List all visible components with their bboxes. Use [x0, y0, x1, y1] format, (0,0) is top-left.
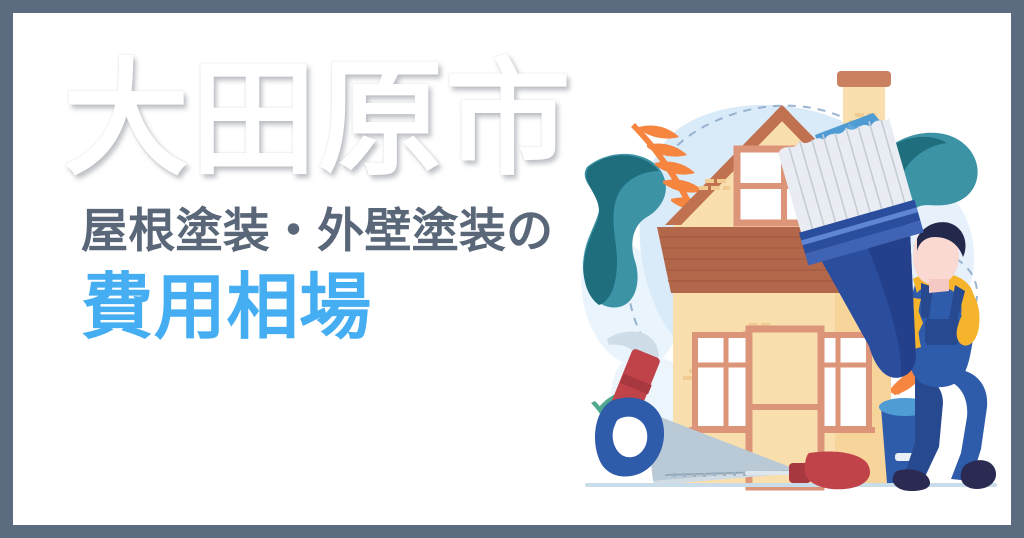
banner-root: 大田原市 屋根塗装・外壁塗装の 費用相場 — [0, 0, 1024, 538]
ground-line — [585, 483, 997, 487]
house-painting-illustration — [577, 39, 1007, 509]
banner-card: 大田原市 屋根塗装・外壁塗装の 費用相場 — [13, 13, 1011, 525]
